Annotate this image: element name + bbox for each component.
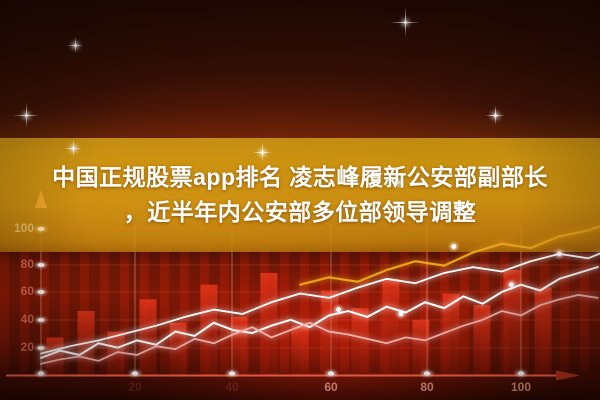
headline-line-2: ，近半年内公安部多位部领导调整: [0, 195, 600, 230]
promo-banner-image: 20406080100 20406080100 中国正规股票app排名 凌志峰履…: [0, 0, 600, 400]
headline-line-1: 中国正规股票app排名 凌志峰履新公安部副部长: [0, 160, 600, 195]
headline-text: 中国正规股票app排名 凌志峰履新公安部副部长 ，近半年内公安部多位部领导调整: [0, 160, 600, 230]
